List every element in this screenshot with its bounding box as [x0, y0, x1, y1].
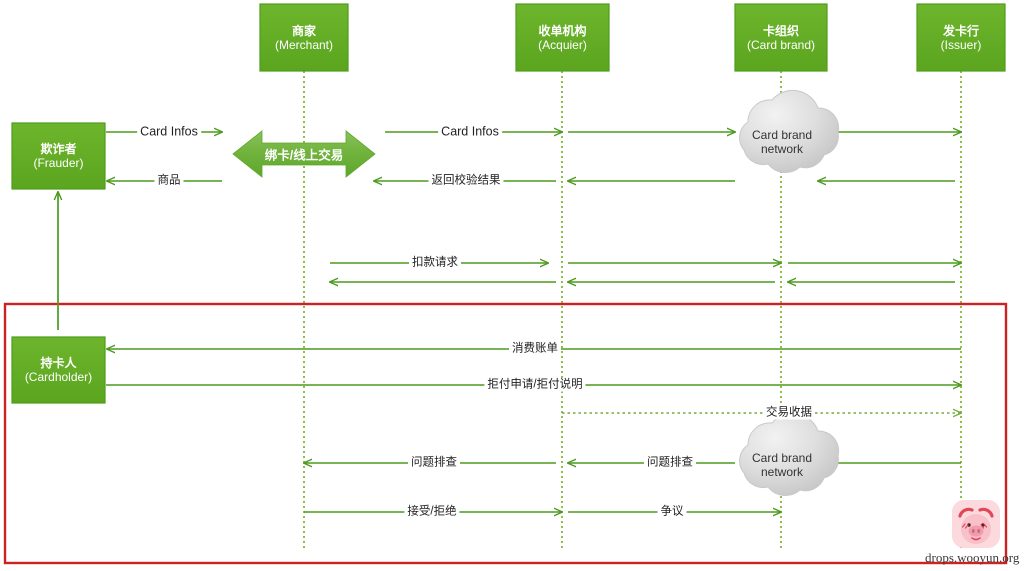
cloud-label-top-line1: Card brand	[752, 128, 812, 142]
message-label-accept-reject: 接受/拒绝	[404, 506, 459, 519]
message-label-deduction-request: 扣款请求	[409, 257, 461, 270]
pig-logo	[952, 500, 1000, 548]
message-label-dispute: 争议	[658, 506, 687, 519]
footer-watermark: drops.wooyun.org	[925, 550, 1019, 566]
message-label-card-infos-merchant: Card Infos	[438, 126, 502, 139]
chargeback-highlight-region	[5, 304, 1006, 563]
diagram-canvas: 欺诈者 (Frauder) 商家 (Merchant) 收单机构 (Acquie…	[0, 0, 1024, 571]
message-label-card-infos-frauder: Card Infos	[137, 126, 201, 139]
cloud-label-bottom: Card brand network	[752, 451, 812, 479]
diagram-vector-layer	[0, 0, 1024, 571]
cloud-label-top: Card brand network	[752, 128, 812, 156]
message-label-goods: 商品	[155, 175, 184, 188]
node-box-frauder	[12, 123, 105, 189]
message-label-consumption-statement: 消费账单	[509, 343, 561, 356]
lifelines	[304, 71, 961, 548]
message-label-problem-investigation-merchant: 问题排查	[408, 457, 460, 470]
message-label-transaction-receipt: 交易收据	[763, 407, 815, 420]
node-box-issuer	[917, 4, 1005, 71]
cloud-label-bottom-line2: network	[761, 465, 803, 479]
node-box-cardholder	[12, 337, 105, 403]
cloud-label-top-line2: network	[761, 142, 803, 156]
node-box-merchant	[260, 4, 348, 71]
big-arrow-label: 绑卡/线上交易	[265, 145, 343, 164]
message-label-problem-investigation-acquirer: 问题排查	[644, 457, 696, 470]
node-box-acquirer	[516, 4, 609, 71]
message-label-verify-result: 返回校验结果	[429, 175, 504, 188]
node-box-cardbrand	[735, 4, 827, 71]
message-label-chargeback-application: 拒付申请/拒付说明	[484, 379, 585, 392]
cloud-label-bottom-line1: Card brand	[752, 451, 812, 465]
